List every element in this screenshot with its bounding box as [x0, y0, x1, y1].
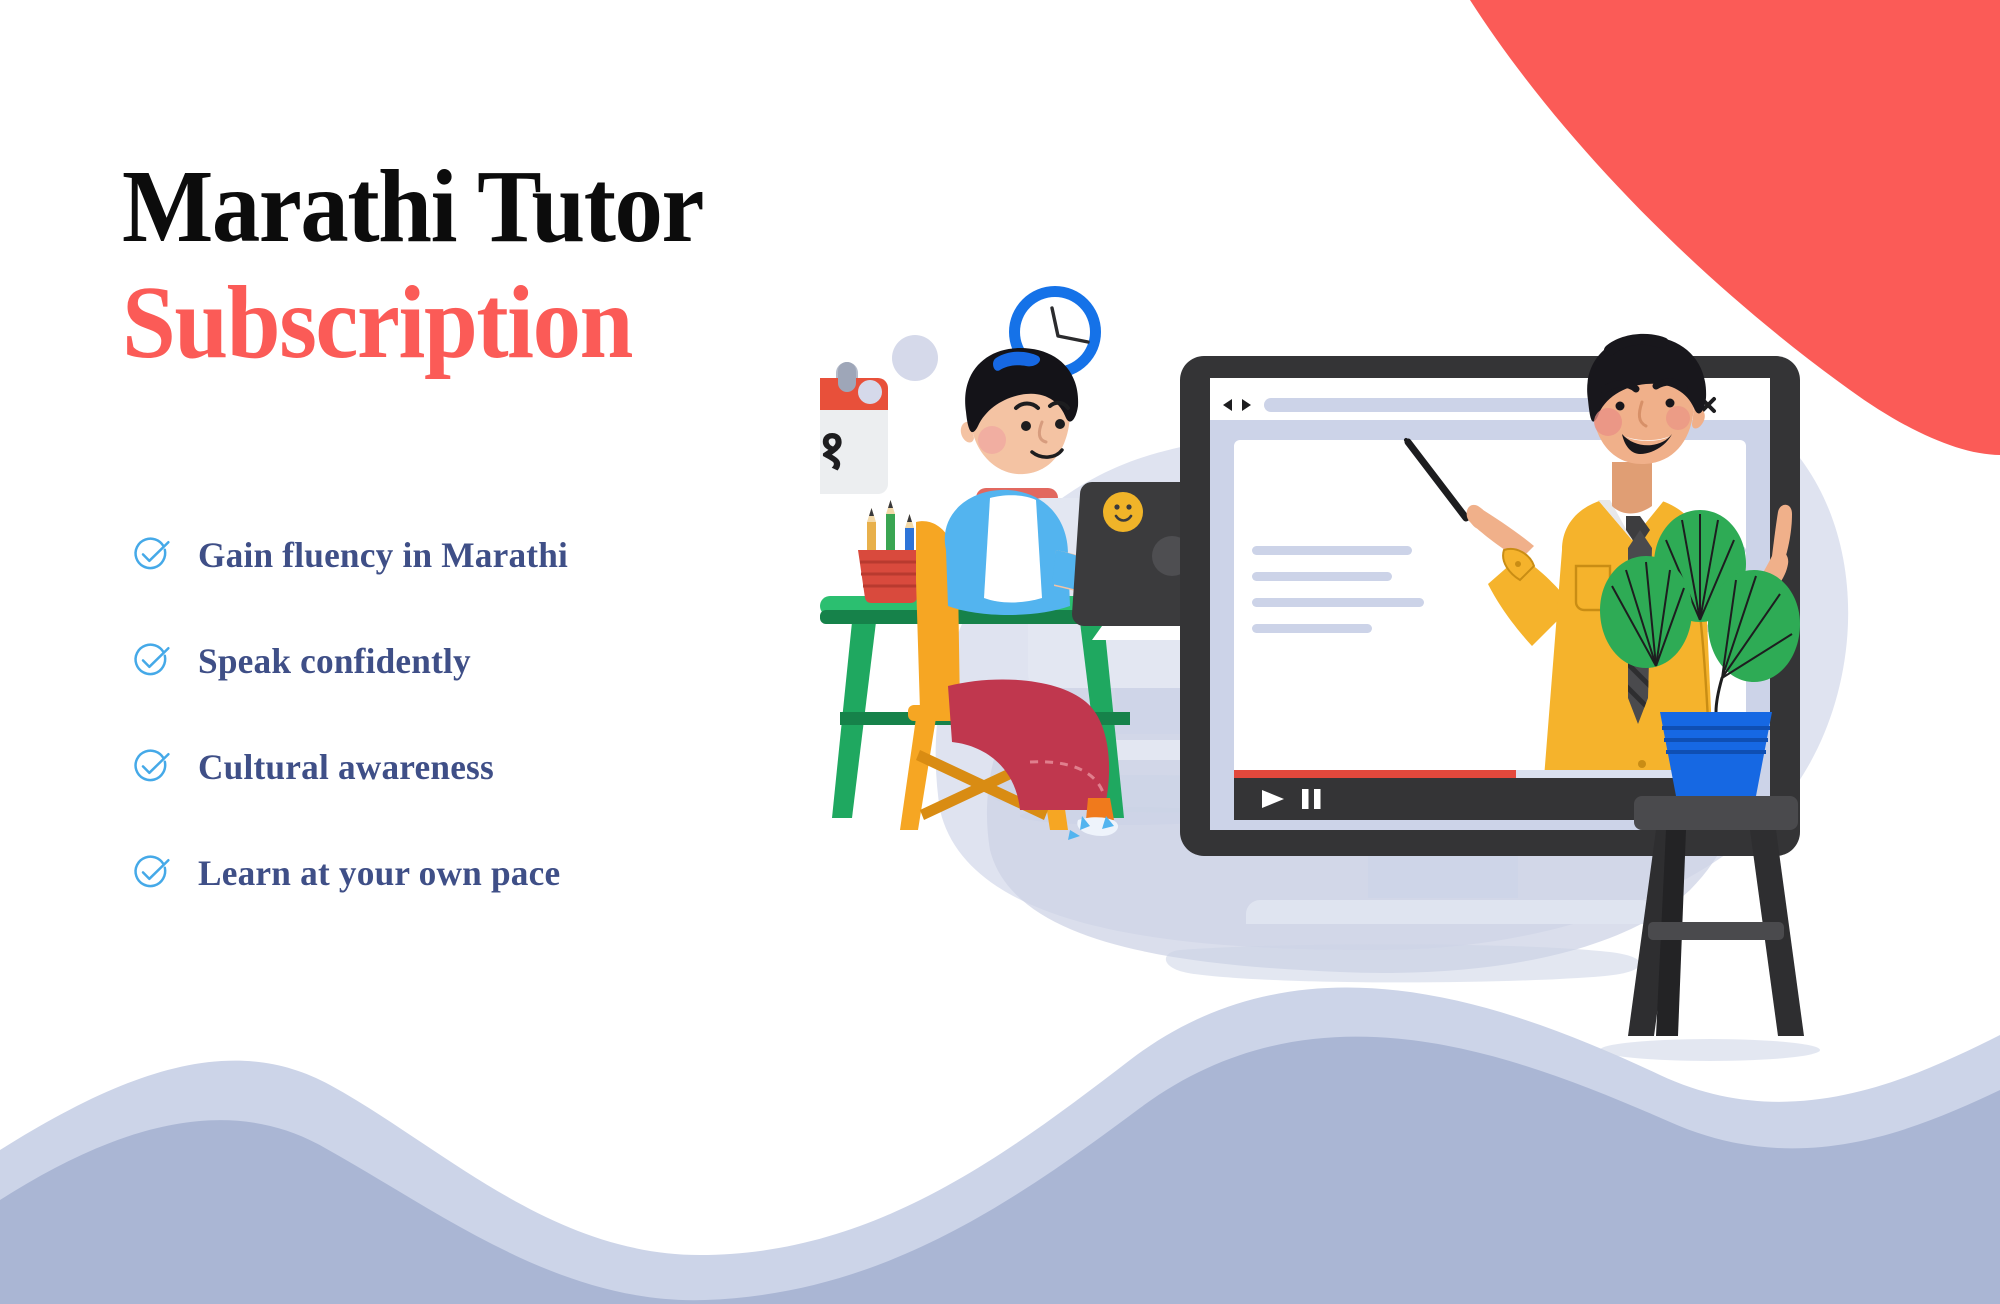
page-title: Marathi Tutor Subscription [122, 154, 922, 376]
headline-line-1: Marathi Tutor [122, 154, 866, 260]
feature-item-1: Speak confidently [130, 638, 890, 684]
online-learning-illustration: ३१ [820, 250, 2000, 1080]
address-bar[interactable] [1264, 398, 1614, 412]
poster-canvas: Marathi Tutor Subscription Gain fluency … [0, 0, 2000, 1304]
feature-label-2: Cultural awareness [198, 746, 494, 788]
headline-line-2: Subscription [122, 270, 866, 376]
text-column: Marathi Tutor Subscription Gain fluency … [0, 0, 960, 1304]
feature-label-3: Learn at your own pace [198, 852, 560, 894]
feature-list: Gain fluency in Marathi Speak confidentl… [130, 532, 890, 896]
check-circle-icon [130, 640, 172, 682]
check-circle-icon [130, 534, 172, 576]
feature-item-2: Cultural awareness [130, 744, 890, 790]
check-circle-icon [130, 746, 172, 788]
feature-label-0: Gain fluency in Marathi [198, 534, 568, 576]
progress-fill [1234, 770, 1516, 778]
feature-item-3: Learn at your own pace [130, 850, 890, 896]
smiley-sticker-icon [1103, 492, 1143, 532]
feature-item-0: Gain fluency in Marathi [130, 532, 890, 578]
feature-label-1: Speak confidently [198, 640, 471, 682]
video-monitor [1180, 334, 1800, 924]
check-circle-icon [130, 852, 172, 894]
